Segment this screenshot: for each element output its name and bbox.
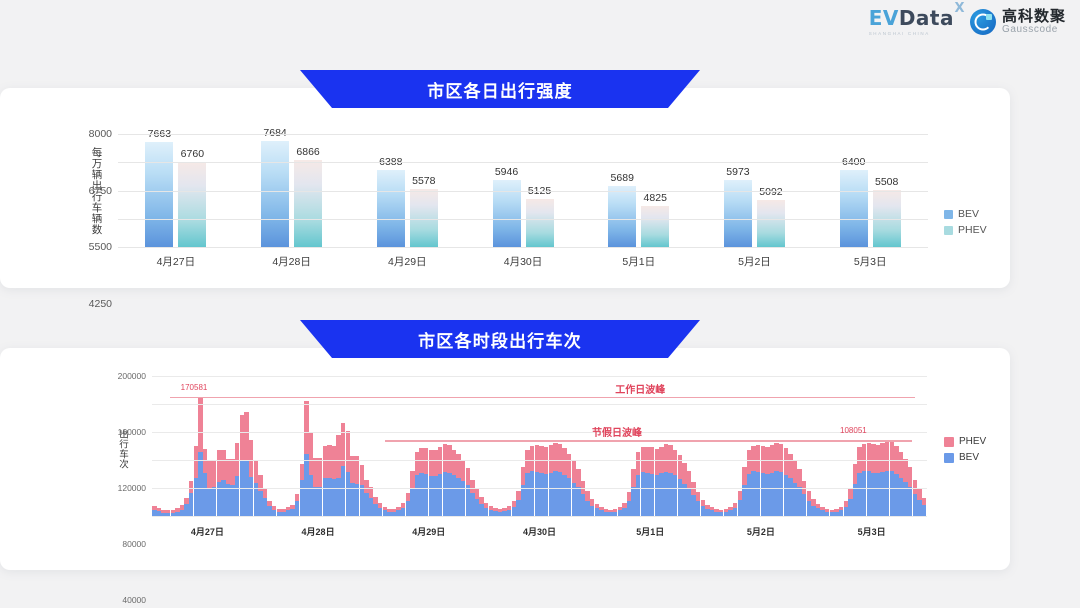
chart1-gridline: 6750 [118, 162, 928, 163]
legend-swatch-icon [944, 453, 954, 463]
chart2-legend-item-bev[interactable]: BEV [944, 452, 986, 463]
evdata-logo-text: EVData X [869, 8, 954, 28]
chart2-x-tick: 5月3日 [858, 525, 886, 538]
chart1-legend-item-phev[interactable]: PHEV [944, 224, 987, 236]
chart2-gridline: 120000 [152, 432, 927, 433]
chart1-bar-phev[interactable]: 4825 [641, 206, 669, 247]
chart1-y-tick: 8000 [89, 128, 112, 140]
chart1-bar-value: 5946 [495, 166, 518, 178]
chart2-segment-bev [922, 505, 926, 516]
chart1-bar-phev[interactable]: 5092 [757, 200, 785, 247]
chart1-bar-phev[interactable]: 5125 [526, 199, 554, 247]
legend-swatch-icon [944, 210, 953, 219]
chart1-legend: BEVPHEV [944, 208, 987, 236]
chart2-legend: PHEVBEV [944, 436, 986, 463]
evdata-logo-suffix: Data [899, 6, 954, 30]
chart2-y-tick: 160000 [118, 427, 146, 437]
chart1-legend-label: PHEV [958, 224, 987, 236]
chart1-legend-item-bev[interactable]: BEV [944, 208, 987, 220]
panel-1-title-banner: 市区各日出行强度 [300, 70, 700, 108]
chart1-bar-value: 5508 [875, 176, 898, 188]
chart1-bar-phev[interactable]: 6866 [294, 160, 322, 247]
chart1-gridline: 3000 [118, 247, 928, 248]
chart1-bar-bev[interactable]: 6400 [840, 170, 868, 247]
chart2-legend-label: BEV [959, 452, 979, 463]
dashboard-page: EVData X shanghai china 高科数聚 Gausscode 市… [0, 0, 1080, 608]
chart1-bar-value: 5092 [759, 186, 782, 198]
chart2-x-tick: 4月30日 [523, 525, 556, 538]
chart1-bar-bev[interactable]: 5689 [608, 186, 636, 247]
evdata-logo: EVData X shanghai china [869, 8, 954, 36]
chart2-x-tick: 5月1日 [636, 525, 664, 538]
chart2-holiday-peak-value: 108051 [840, 426, 867, 435]
chart1-bar-value: 5973 [726, 166, 749, 178]
chart1-bar-value: 6760 [181, 148, 204, 160]
chart2-gridline: 40000 [152, 488, 927, 489]
legend-swatch-icon [944, 437, 954, 447]
chart1-x-tick: 4月27日 [118, 254, 234, 269]
gausscode-logo-cn: 高科数聚 [1002, 9, 1066, 25]
chart2-holiday-peak-label: 节假日波峰 [592, 424, 642, 439]
chart2-weekday-peak-line [170, 397, 915, 399]
chart1-bar-value: 6866 [296, 146, 319, 158]
chart1-x-tick: 5月3日 [812, 254, 928, 269]
hourly-trips-card: 出行车次 040000800001200001600002000004月27日4… [0, 348, 1010, 570]
chart2-weekday-peak-value: 170581 [181, 383, 208, 392]
chart2-weekday-peak-label: 工作日波峰 [615, 381, 665, 396]
chart1-y-tick: 5500 [89, 241, 112, 253]
chart1-x-tick: 4月28日 [234, 254, 350, 269]
chart1-bar-bev[interactable]: 7663 [145, 142, 173, 247]
chart2-x-tick: 5月2日 [747, 525, 775, 538]
chart1-gridline: 4250 [118, 219, 928, 220]
chart1-legend-label: BEV [958, 208, 979, 220]
chart2-gridline: 200000 [152, 376, 927, 377]
chart2-x-tick: 4月27日 [191, 525, 224, 538]
chart1-gridline: 8000 [118, 134, 928, 135]
legend-swatch-icon [944, 226, 953, 235]
chart2-plot-area: 040000800001200001600002000004月27日4月28日4… [152, 376, 927, 516]
chart1-gridline: 5500 [118, 191, 928, 192]
chart2-gridline: 0 [152, 516, 927, 517]
chart1-x-tick: 5月1日 [581, 254, 697, 269]
gausscode-logo-en: Gausscode [1002, 25, 1066, 36]
chart2-gridline: 80000 [152, 460, 927, 461]
panel-2-title-banner: 市区各时段出行车次 [300, 320, 700, 358]
chart2-legend-item-phev[interactable]: PHEV [944, 436, 986, 447]
evdata-logo-prefix: EV [869, 6, 899, 30]
chart1-bar-value: 4825 [644, 192, 667, 204]
chart2-x-tick: 4月29日 [412, 525, 445, 538]
gausscode-mark-icon [970, 9, 996, 35]
panel-1-title: 市区各日出行强度 [427, 77, 573, 102]
chart2-gridline: 160000 [152, 404, 927, 405]
chart2-legend-label: PHEV [959, 436, 986, 447]
chart1-y-tick: 4250 [89, 298, 112, 310]
chart1-bar-bev[interactable]: 6388 [377, 170, 405, 247]
evdata-logo-x: X [954, 2, 965, 15]
chart1-x-tick: 5月2日 [697, 254, 813, 269]
chart1-y-tick: 6750 [89, 185, 112, 197]
chart1-plot-area: 766367604月27日768468664月28日638855784月29日5… [118, 134, 928, 247]
panel-2-title: 市区各时段出行车次 [418, 327, 582, 352]
chart1-bar-value: 5689 [611, 172, 634, 184]
chart2-y-tick: 40000 [122, 595, 146, 605]
chart2-segment-phev [922, 498, 926, 505]
chart2-y-tick: 80000 [122, 539, 146, 549]
chart2-hour-column[interactable] [922, 376, 926, 516]
chart2-y-tick: 120000 [118, 483, 146, 493]
chart1-bar-bev[interactable]: 7684 [261, 141, 289, 247]
header-logos: EVData X shanghai china 高科数聚 Gausscode [869, 8, 1066, 36]
chart1-x-tick: 4月29日 [349, 254, 465, 269]
chart1-x-tick: 4月30日 [465, 254, 581, 269]
gausscode-logo-text: 高科数聚 Gausscode [1002, 9, 1066, 35]
evdata-logo-subtitle: shanghai china [869, 31, 930, 36]
chart1-bar-value: 5578 [412, 175, 435, 187]
chart1-bar-phev[interactable]: 6760 [178, 162, 206, 247]
gausscode-logo: 高科数聚 Gausscode [970, 9, 1066, 35]
chart2-x-tick: 4月28日 [302, 525, 335, 538]
daily-intensity-card: 每万辆出行车辆数 766367604月27日768468664月28日63885… [0, 88, 1010, 288]
chart2-y-tick: 200000 [118, 371, 146, 381]
chart2-y-axis-label: 出行车次 [115, 376, 129, 521]
chart2-holiday-peak-line [385, 440, 912, 442]
